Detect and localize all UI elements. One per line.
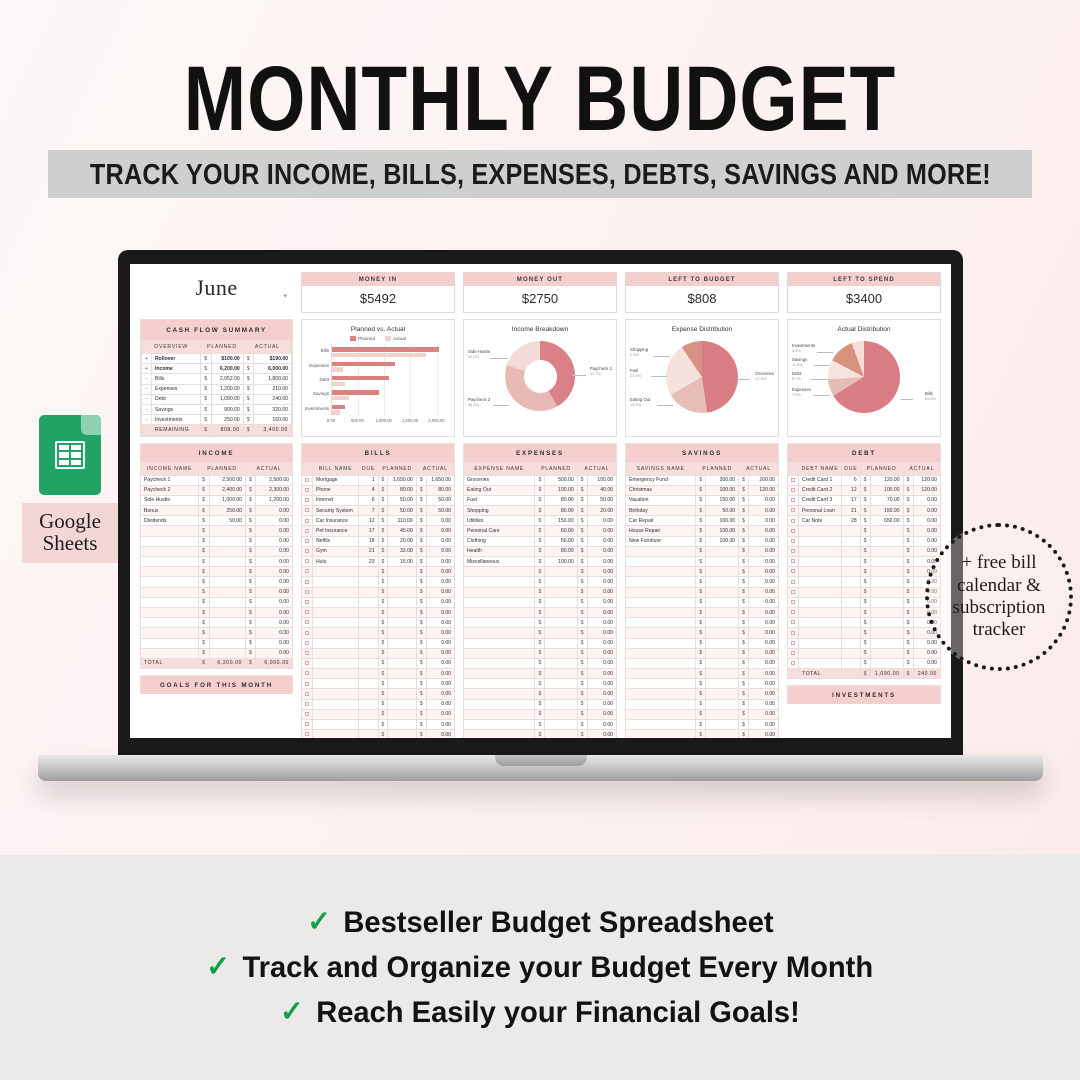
table-cell[interactable] — [313, 679, 359, 689]
table-cell[interactable]: 0.00 — [587, 516, 616, 526]
table-cell[interactable] — [141, 526, 199, 536]
table-cell[interactable]: $ — [378, 587, 388, 597]
table-cell[interactable]: 45.00 — [388, 526, 416, 536]
table-cell[interactable] — [545, 669, 577, 679]
table-cell[interactable]: $ — [378, 679, 388, 689]
row-checkbox[interactable] — [305, 600, 309, 604]
table-cell[interactable] — [626, 557, 696, 567]
table-cell[interactable]: $ — [246, 536, 256, 546]
table-cell[interactable] — [209, 648, 246, 658]
table-cell[interactable]: Rollover — [151, 354, 200, 364]
table-cell[interactable]: $ — [577, 485, 587, 495]
table-cell[interactable]: $ — [577, 475, 587, 485]
table-cell[interactable]: $ — [696, 679, 706, 689]
table-cell[interactable] — [545, 648, 577, 658]
table-cell[interactable]: 0.00 — [587, 628, 616, 638]
table-cell[interactable]: $ — [577, 506, 587, 516]
table-cell[interactable]: 160.00 — [254, 415, 292, 425]
table-cell[interactable]: + — [142, 354, 152, 364]
table-cell[interactable]: 50.00 — [706, 506, 739, 516]
table-cell[interactable]: 0.00 — [426, 679, 454, 689]
table-cell[interactable] — [388, 648, 416, 658]
checkbox-cell[interactable] — [302, 669, 313, 679]
table-cell[interactable]: $ — [903, 567, 913, 577]
table-cell[interactable] — [545, 597, 577, 607]
table-cell[interactable] — [842, 546, 861, 556]
table-cell[interactable]: $ — [199, 658, 209, 668]
table-cell[interactable]: $ — [535, 577, 545, 587]
table-cell[interactable] — [799, 628, 842, 638]
table-cell[interactable]: $ — [378, 536, 388, 546]
table-cell[interactable]: 80.00 — [545, 506, 577, 516]
table-cell[interactable]: $ — [739, 516, 749, 526]
table-cell[interactable] — [545, 679, 577, 689]
table-cell[interactable]: 7 — [359, 506, 378, 516]
table-cell[interactable] — [706, 628, 739, 638]
table-cell[interactable] — [545, 618, 577, 628]
table-cell[interactable] — [842, 628, 861, 638]
table-cell[interactable]: Shopping — [464, 506, 535, 516]
table-cell[interactable] — [464, 658, 535, 668]
table-cell[interactable]: 1 — [359, 475, 378, 485]
table-cell[interactable]: 0.00 — [587, 597, 616, 607]
table-cell[interactable]: 120.00 — [871, 475, 904, 485]
table-cell[interactable]: $ — [416, 587, 426, 597]
table-cell[interactable]: $ — [577, 546, 587, 556]
table-cell[interactable]: 0.00 — [587, 557, 616, 567]
table-cell[interactable]: $ — [201, 394, 211, 404]
row-checkbox[interactable] — [305, 508, 309, 512]
table-cell[interactable]: 12 — [359, 516, 378, 526]
table-cell[interactable]: 0.00 — [748, 730, 778, 738]
checkbox-cell[interactable] — [302, 506, 313, 516]
table-cell[interactable] — [626, 638, 696, 648]
table-cell[interactable] — [799, 536, 842, 546]
table-cell[interactable]: 17 — [359, 526, 378, 536]
table-cell[interactable] — [464, 689, 535, 699]
table-cell[interactable] — [141, 546, 199, 556]
table-cell[interactable] — [141, 628, 199, 638]
table-cell[interactable] — [464, 648, 535, 658]
chevron-down-icon[interactable]: ▾ — [283, 292, 287, 300]
table-cell[interactable]: 0.00 — [426, 597, 454, 607]
table-cell[interactable] — [842, 618, 861, 628]
table-cell[interactable]: 18 — [359, 536, 378, 546]
table-cell[interactable]: $ — [860, 567, 870, 577]
table-cell[interactable]: 0.00 — [426, 546, 454, 556]
table-cell[interactable]: $ — [739, 546, 749, 556]
checkbox-cell[interactable] — [788, 495, 799, 505]
table-cell[interactable]: $ — [577, 495, 587, 505]
table-cell[interactable] — [141, 648, 199, 658]
table-cell[interactable] — [871, 567, 904, 577]
table-cell[interactable]: Paycheck 2 — [141, 485, 199, 495]
table-cell[interactable]: $ — [199, 546, 209, 556]
table-cell[interactable]: 0.00 — [587, 607, 616, 617]
table-cell[interactable]: $ — [378, 546, 388, 556]
row-checkbox[interactable] — [791, 488, 795, 492]
table-cell[interactable] — [799, 658, 842, 668]
table-cell[interactable] — [545, 628, 577, 638]
table-cell[interactable]: $ — [577, 628, 587, 638]
table-cell[interactable]: $ — [201, 415, 211, 425]
table-cell[interactable]: 0.00 — [748, 699, 778, 709]
table-cell[interactable]: 0.00 — [426, 618, 454, 628]
table-cell[interactable]: $ — [535, 557, 545, 567]
table-cell[interactable]: Credit Card 2 — [799, 485, 842, 495]
table-cell[interactable]: $ — [903, 536, 913, 546]
table-cell[interactable]: $190.00 — [254, 354, 292, 364]
row-checkbox[interactable] — [305, 682, 309, 686]
table-cell[interactable] — [842, 658, 861, 668]
table-cell[interactable]: 0.00 — [748, 506, 778, 516]
table-cell[interactable] — [388, 577, 416, 587]
table-cell[interactable]: $ — [246, 546, 256, 556]
row-checkbox[interactable] — [305, 712, 309, 716]
table-cell[interactable]: 50.00 — [587, 495, 616, 505]
checkbox-cell[interactable] — [788, 567, 799, 577]
table-cell[interactable]: $ — [696, 485, 706, 495]
table-cell[interactable] — [388, 720, 416, 730]
table-cell[interactable]: $ — [378, 699, 388, 709]
table-cell[interactable]: $ — [860, 557, 870, 567]
table-cell[interactable]: 4 — [359, 485, 378, 495]
table-cell[interactable]: 0.00 — [748, 648, 778, 658]
table-cell[interactable]: Bonus — [141, 506, 199, 516]
table-cell[interactable]: House Repair — [626, 526, 696, 536]
table-cell[interactable]: $ — [201, 404, 211, 414]
checkbox-cell[interactable] — [788, 536, 799, 546]
checkbox-cell[interactable] — [788, 638, 799, 648]
checkbox-cell[interactable] — [302, 485, 313, 495]
table-cell[interactable] — [706, 720, 739, 730]
checkbox-cell[interactable] — [302, 475, 313, 485]
table-cell[interactable]: Christmas — [626, 485, 696, 495]
table-cell[interactable]: 0.00 — [256, 638, 293, 648]
table-cell[interactable]: Credit Card 1 — [799, 475, 842, 485]
table-cell[interactable] — [209, 628, 246, 638]
table-cell[interactable]: $ — [243, 384, 253, 394]
table-cell[interactable] — [545, 577, 577, 587]
checkbox-cell[interactable] — [788, 628, 799, 638]
table-cell[interactable] — [799, 587, 842, 597]
table-cell[interactable]: $ — [246, 516, 256, 526]
table-cell[interactable] — [359, 577, 378, 587]
table-cell[interactable]: $ — [739, 475, 749, 485]
table-cell[interactable]: 28 — [842, 516, 861, 526]
table-cell[interactable]: 0.00 — [426, 587, 454, 597]
table-cell[interactable]: $ — [201, 354, 211, 364]
table-cell[interactable]: 80.00 — [426, 485, 454, 495]
table-cell[interactable]: 0.00 — [426, 648, 454, 658]
table-cell[interactable] — [871, 597, 904, 607]
table-cell[interactable] — [626, 709, 696, 719]
table-cell[interactable] — [871, 638, 904, 648]
table-cell[interactable]: $ — [199, 516, 209, 526]
table-cell[interactable]: $ — [903, 495, 913, 505]
table-cell[interactable]: 0.00 — [748, 567, 778, 577]
checkbox-cell[interactable] — [302, 607, 313, 617]
table-cell[interactable]: 200.00 — [748, 475, 778, 485]
checkbox-cell[interactable] — [788, 577, 799, 587]
table-cell[interactable]: $ — [246, 658, 256, 668]
table-cell[interactable]: 15.00 — [388, 557, 416, 567]
table-cell[interactable]: $ — [860, 607, 870, 617]
table-cell[interactable]: $ — [577, 536, 587, 546]
table-cell[interactable]: $ — [416, 709, 426, 719]
table-cell[interactable]: $ — [903, 557, 913, 567]
table-cell[interactable]: $ — [535, 638, 545, 648]
table-cell[interactable]: $ — [860, 638, 870, 648]
table-cell[interactable]: 110.00 — [388, 516, 416, 526]
table-cell[interactable]: 0.00 — [748, 709, 778, 719]
table-cell[interactable]: 0.00 — [256, 567, 293, 577]
table-cell[interactable] — [626, 597, 696, 607]
table-cell[interactable] — [626, 689, 696, 699]
table-cell[interactable]: Phone — [313, 485, 359, 495]
table-cell[interactable] — [388, 587, 416, 597]
table-cell[interactable]: $ — [860, 597, 870, 607]
table-cell[interactable]: $100.00 — [211, 354, 243, 364]
table-cell[interactable] — [388, 628, 416, 638]
table-cell[interactable]: $ — [577, 638, 587, 648]
table-cell[interactable]: $ — [739, 618, 749, 628]
table-cell[interactable]: 0.00 — [256, 607, 293, 617]
table-cell[interactable]: 0.00 — [748, 679, 778, 689]
table-cell[interactable]: $ — [535, 689, 545, 699]
table-cell[interactable]: 0.00 — [256, 587, 293, 597]
table-cell[interactable] — [359, 648, 378, 658]
table-cell[interactable] — [359, 720, 378, 730]
table-cell[interactable]: $ — [416, 720, 426, 730]
table-cell[interactable]: 50.00 — [209, 516, 246, 526]
table-cell[interactable]: $ — [860, 648, 870, 658]
table-cell[interactable]: 6,200.00 — [209, 658, 246, 668]
table-cell[interactable]: $ — [739, 495, 749, 505]
table-cell[interactable]: $ — [199, 628, 209, 638]
table-cell[interactable]: $ — [860, 628, 870, 638]
table-cell[interactable]: $ — [860, 516, 870, 526]
table-cell[interactable] — [706, 689, 739, 699]
table-cell[interactable]: 0.00 — [426, 689, 454, 699]
table-cell[interactable]: 20.00 — [388, 536, 416, 546]
table-cell[interactable] — [799, 638, 842, 648]
table-cell[interactable]: $ — [577, 567, 587, 577]
table-cell[interactable]: Car Repair — [626, 516, 696, 526]
table-cell[interactable]: $ — [696, 689, 706, 699]
table-cell[interactable]: $ — [199, 618, 209, 628]
table-cell[interactable]: 0.00 — [587, 679, 616, 689]
table-cell[interactable] — [388, 618, 416, 628]
table-cell[interactable]: $ — [696, 516, 706, 526]
table-cell[interactable]: $ — [243, 374, 253, 384]
table-cell[interactable] — [359, 679, 378, 689]
table-cell[interactable]: $ — [535, 648, 545, 658]
table-cell[interactable]: 1,090.00 — [871, 669, 904, 679]
table-cell[interactable]: $ — [739, 689, 749, 699]
table-cell[interactable]: - — [142, 415, 152, 425]
table-cell[interactable] — [871, 618, 904, 628]
table-cell[interactable]: $ — [416, 648, 426, 658]
row-checkbox[interactable] — [791, 519, 795, 523]
table-cell[interactable]: 50.00 — [388, 506, 416, 516]
table-cell[interactable]: 150.00 — [545, 516, 577, 526]
table-cell[interactable]: $ — [739, 628, 749, 638]
table-cell[interactable] — [313, 607, 359, 617]
row-checkbox[interactable] — [791, 529, 795, 533]
table-cell[interactable]: 0.00 — [748, 516, 778, 526]
checkbox-cell[interactable] — [302, 536, 313, 546]
table-cell[interactable] — [706, 577, 739, 587]
table-cell[interactable]: $ — [739, 587, 749, 597]
table-cell[interactable]: 0.00 — [587, 587, 616, 597]
table-cell[interactable]: 0.00 — [914, 516, 941, 526]
table-cell[interactable]: 0.00 — [587, 730, 616, 738]
table-cell[interactable]: + — [142, 364, 152, 374]
table-cell[interactable]: $ — [903, 506, 913, 516]
checkbox-cell[interactable] — [302, 516, 313, 526]
table-cell[interactable]: 0.00 — [256, 618, 293, 628]
table-cell[interactable]: 1,650.00 — [388, 475, 416, 485]
table-cell[interactable]: 50.00 — [426, 495, 454, 505]
table-cell[interactable] — [626, 669, 696, 679]
spreadsheet[interactable]: June ▾ MONEY IN $5492 MONEY OUT $2750 — [130, 264, 951, 738]
table-cell[interactable]: $ — [535, 516, 545, 526]
table-cell[interactable] — [141, 587, 199, 597]
row-checkbox[interactable] — [305, 549, 309, 553]
table-cell[interactable]: $ — [201, 374, 211, 384]
table-cell[interactable] — [545, 709, 577, 719]
table-cell[interactable] — [706, 567, 739, 577]
table-cell[interactable]: $ — [577, 679, 587, 689]
table-cell[interactable] — [313, 648, 359, 658]
table-cell[interactable] — [313, 709, 359, 719]
row-checkbox[interactable] — [305, 702, 309, 706]
table-cell[interactable]: $ — [577, 658, 587, 668]
row-checkbox[interactable] — [791, 580, 795, 584]
table-cell[interactable]: $ — [246, 567, 256, 577]
table-cell[interactable]: $ — [903, 577, 913, 587]
table-cell[interactable]: 0.00 — [426, 526, 454, 536]
table-cell[interactable] — [626, 618, 696, 628]
table-cell[interactable]: 0.00 — [426, 607, 454, 617]
table-cell[interactable] — [626, 720, 696, 730]
table-cell[interactable]: $ — [860, 536, 870, 546]
table-cell[interactable]: 0.00 — [587, 709, 616, 719]
table-cell[interactable]: 0.00 — [748, 638, 778, 648]
table-cell[interactable]: $ — [577, 526, 587, 536]
checkbox-cell[interactable] — [302, 658, 313, 668]
table-cell[interactable]: $ — [860, 485, 870, 495]
table-cell[interactable]: $ — [416, 638, 426, 648]
table-cell[interactable]: $ — [378, 658, 388, 668]
table-cell[interactable]: $ — [246, 577, 256, 587]
table-cell[interactable]: Bills — [151, 374, 200, 384]
table-cell[interactable]: Mortgage — [313, 475, 359, 485]
table-cell[interactable]: $ — [378, 709, 388, 719]
table-cell[interactable] — [464, 618, 535, 628]
table-cell[interactable] — [871, 546, 904, 556]
table-cell[interactable] — [388, 689, 416, 699]
table-cell[interactable]: 80.00 — [545, 495, 577, 505]
table-cell[interactable]: $ — [535, 567, 545, 577]
table-cell[interactable]: $ — [378, 526, 388, 536]
table-cell[interactable]: Vacation — [626, 495, 696, 505]
table-cell[interactable] — [799, 567, 842, 577]
table-cell[interactable]: 100.00 — [545, 557, 577, 567]
table-cell[interactable]: 0.00 — [426, 730, 454, 738]
table-cell[interactable]: 0.00 — [748, 720, 778, 730]
table-cell[interactable] — [209, 536, 246, 546]
table-cell[interactable]: 0.00 — [914, 506, 941, 516]
table-cell[interactable]: $ — [577, 577, 587, 587]
table-cell[interactable]: 60.00 — [545, 526, 577, 536]
row-checkbox[interactable] — [305, 539, 309, 543]
table-cell[interactable]: 100.00 — [545, 485, 577, 495]
table-cell[interactable]: $ — [378, 628, 388, 638]
table-cell[interactable]: 0.00 — [426, 638, 454, 648]
table-cell[interactable]: $ — [535, 506, 545, 516]
table-cell[interactable]: $ — [739, 577, 749, 587]
table-cell[interactable] — [313, 669, 359, 679]
table-cell[interactable] — [388, 567, 416, 577]
row-checkbox[interactable] — [305, 610, 309, 614]
checkbox-cell[interactable] — [788, 607, 799, 617]
table-cell[interactable]: $ — [199, 607, 209, 617]
table-cell[interactable]: $ — [416, 730, 426, 738]
table-cell[interactable] — [871, 526, 904, 536]
table-cell[interactable]: 0.00 — [426, 567, 454, 577]
table-cell[interactable]: $ — [243, 364, 253, 374]
table-cell[interactable] — [359, 628, 378, 638]
table-cell[interactable]: 0.00 — [256, 648, 293, 658]
table-cell[interactable]: $ — [860, 475, 870, 485]
table-cell[interactable]: $ — [416, 628, 426, 638]
table-cell[interactable]: $ — [416, 506, 426, 516]
table-cell[interactable]: $ — [378, 597, 388, 607]
table-cell[interactable]: 0.00 — [587, 536, 616, 546]
row-checkbox[interactable] — [305, 529, 309, 533]
table-cell[interactable]: $ — [535, 709, 545, 719]
table-cell[interactable]: $ — [535, 607, 545, 617]
table-cell[interactable] — [464, 730, 535, 738]
table-cell[interactable]: Car Insurance — [313, 516, 359, 526]
table-cell[interactable]: 20.00 — [587, 506, 616, 516]
table-cell[interactable]: Health — [464, 546, 535, 556]
table-cell[interactable]: $ — [696, 597, 706, 607]
table-cell[interactable] — [209, 526, 246, 536]
table-cell[interactable] — [388, 730, 416, 738]
table-cell[interactable]: $ — [696, 567, 706, 577]
checkbox-cell[interactable] — [788, 546, 799, 556]
table-cell[interactable]: 6 — [359, 495, 378, 505]
table-cell[interactable] — [359, 618, 378, 628]
table-cell[interactable]: 40.00 — [587, 485, 616, 495]
table-cell[interactable]: $ — [378, 618, 388, 628]
table-cell[interactable]: 0.00 — [748, 587, 778, 597]
table-cell[interactable]: $ — [739, 679, 749, 689]
table-cell[interactable] — [464, 699, 535, 709]
table-cell[interactable]: 0.00 — [256, 577, 293, 587]
table-cell[interactable] — [799, 597, 842, 607]
table-cell[interactable] — [871, 557, 904, 567]
table-cell[interactable] — [706, 546, 739, 556]
table-cell[interactable]: 120.00 — [914, 485, 941, 495]
table-cell[interactable] — [359, 709, 378, 719]
table-cell[interactable]: 0.00 — [426, 699, 454, 709]
table-cell[interactable] — [871, 587, 904, 597]
row-checkbox[interactable] — [305, 722, 309, 726]
